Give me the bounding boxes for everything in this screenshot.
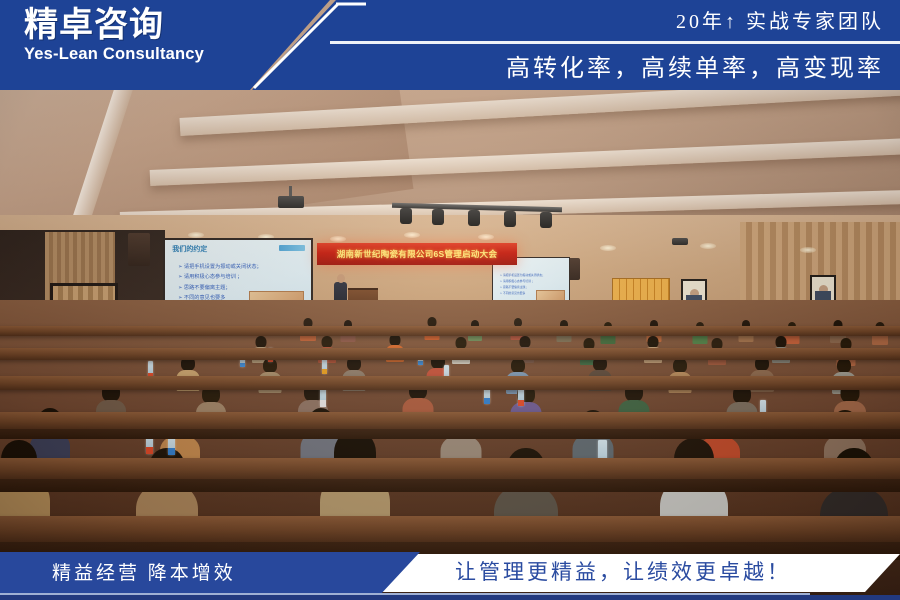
slide-bullet: ➢ 请把手机设置为振动或关闭状态； — [500, 273, 565, 277]
slide-bullet: ➢ 请用积极心态参与培训 ； — [500, 279, 565, 283]
slide-bullet: ➢ 请把手机设置为振动或关闭状态； — [178, 263, 304, 270]
stage-spotlight — [400, 208, 412, 224]
ceiling-downlight — [330, 236, 346, 242]
slide-bullet: ➢ 思路不要偏离主题； — [178, 284, 304, 291]
slide-bullet: ➢ 请用积极心态参与培训 ； — [178, 273, 304, 280]
stage-spotlight — [432, 209, 444, 225]
desk-row — [0, 412, 900, 429]
desk-row — [0, 516, 900, 542]
stage-spotlight — [468, 210, 480, 226]
slide-bullet: ➢ 思路不要偏离主题； — [500, 285, 565, 289]
page-footer: 精益经营 降本增效 让管理更精益，让绩效更卓越！ — [0, 552, 900, 600]
footer-text-right: 让管理更精益，让绩效更卓越！ — [455, 556, 791, 586]
stage-spotlight — [540, 212, 552, 228]
footer-bottom-strip — [0, 595, 900, 600]
desk-row — [0, 326, 900, 336]
footer-text-left: 精益经营 降本增效 — [52, 558, 236, 585]
wall-speaker — [128, 233, 150, 266]
slide-logo — [279, 245, 305, 251]
slide-title: 我们的约定 — [172, 244, 207, 254]
desk-front-panel — [0, 479, 900, 492]
ceiling-downlight — [700, 243, 716, 249]
ceiling-projector — [672, 238, 688, 245]
poster-root: 我们的约定 ➢ 请把手机设置为振动或关闭状态； ➢ 请用积极心态参与培训 ； ➢… — [0, 0, 900, 600]
desk-front-panel — [0, 429, 900, 439]
ceiling-projector — [278, 196, 304, 208]
stage-spotlight — [504, 211, 516, 227]
ceiling-downlight — [404, 232, 420, 238]
presenter-head — [337, 274, 345, 283]
stage-banner: 湖南新世纪陶瓷有限公司6S管理启动大会 — [317, 243, 517, 265]
conference-hall-photo: 我们的约定 ➢ 请把手机设置为振动或关闭状态； ➢ 请用积极心态参与培训 ； ➢… — [0, 0, 900, 600]
stage-banner-text: 湖南新世纪陶瓷有限公司6S管理启动大会 — [337, 248, 498, 260]
desk-row — [0, 348, 900, 360]
water-bottle — [322, 358, 327, 374]
ceiling-downlight — [478, 234, 494, 240]
ceiling-downlight — [800, 247, 816, 253]
desk-row — [0, 376, 900, 390]
desk-row — [0, 458, 900, 479]
ceiling-downlight — [600, 245, 616, 251]
